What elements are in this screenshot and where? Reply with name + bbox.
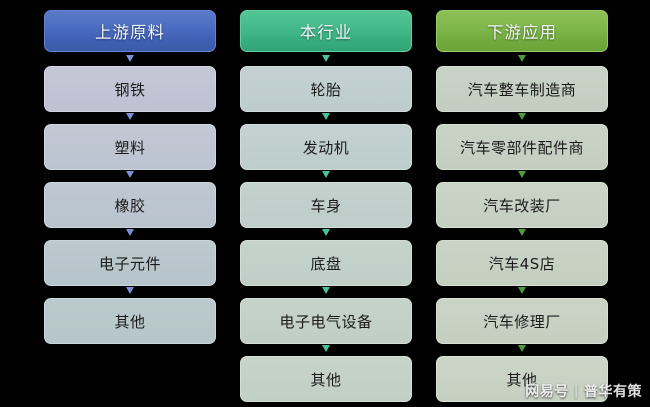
column-header-upstream: 上游原料 (44, 10, 216, 52)
arrow-down-icon (126, 55, 134, 62)
arrow-down-icon (322, 171, 330, 178)
node-box[interactable]: 汽车改装厂 (436, 182, 608, 228)
node-box[interactable]: 底盘 (240, 240, 412, 286)
node-box[interactable]: 车身 (240, 182, 412, 228)
column-header-downstream: 下游应用 (436, 10, 608, 52)
watermark-author: 普华有策 (584, 381, 642, 401)
node-box[interactable]: 汽车整车制造商 (436, 66, 608, 112)
node-box[interactable]: 其他 (44, 298, 216, 344)
node-box[interactable]: 电子元件 (44, 240, 216, 286)
arrow-down-icon (518, 171, 526, 178)
arrow-down-icon (322, 345, 330, 352)
arrow-down-icon (126, 113, 134, 120)
arrow-down-icon (126, 171, 134, 178)
watermark: 网易号 | 普华有策 (525, 381, 642, 401)
arrow-down-icon (322, 113, 330, 120)
arrow-down-icon (126, 229, 134, 236)
arrow-down-icon (518, 287, 526, 294)
node-box[interactable]: 电子电气设备 (240, 298, 412, 344)
arrow-down-icon (126, 287, 134, 294)
node-box[interactable]: 橡胶 (44, 182, 216, 228)
watermark-platform: 网易号 (525, 381, 569, 401)
arrow-down-icon (322, 287, 330, 294)
arrow-down-icon (322, 229, 330, 236)
arrow-down-icon (518, 113, 526, 120)
industry-chain-diagram: 上游原料 钢铁 塑料 橡胶 电子元件 其他 本行业 轮胎 发动机 车身 底盘 电… (0, 0, 650, 407)
node-box[interactable]: 其他 (240, 356, 412, 402)
arrow-down-icon (322, 55, 330, 62)
node-box[interactable]: 钢铁 (44, 66, 216, 112)
watermark-separator: | (574, 383, 579, 399)
node-box[interactable]: 汽车零部件配件商 (436, 124, 608, 170)
arrow-down-icon (518, 55, 526, 62)
arrow-down-icon (518, 229, 526, 236)
arrow-down-icon (518, 345, 526, 352)
node-box[interactable]: 塑料 (44, 124, 216, 170)
column-header-industry: 本行业 (240, 10, 412, 52)
column-upstream: 上游原料 钢铁 塑料 橡胶 电子元件 其他 (44, 0, 216, 407)
column-industry: 本行业 轮胎 发动机 车身 底盘 电子电气设备 其他 (240, 0, 412, 407)
node-box[interactable]: 汽车4S店 (436, 240, 608, 286)
node-box[interactable]: 轮胎 (240, 66, 412, 112)
column-downstream: 下游应用 汽车整车制造商 汽车零部件配件商 汽车改装厂 汽车4S店 汽车修理厂 … (436, 0, 608, 407)
node-box[interactable]: 发动机 (240, 124, 412, 170)
node-box[interactable]: 汽车修理厂 (436, 298, 608, 344)
